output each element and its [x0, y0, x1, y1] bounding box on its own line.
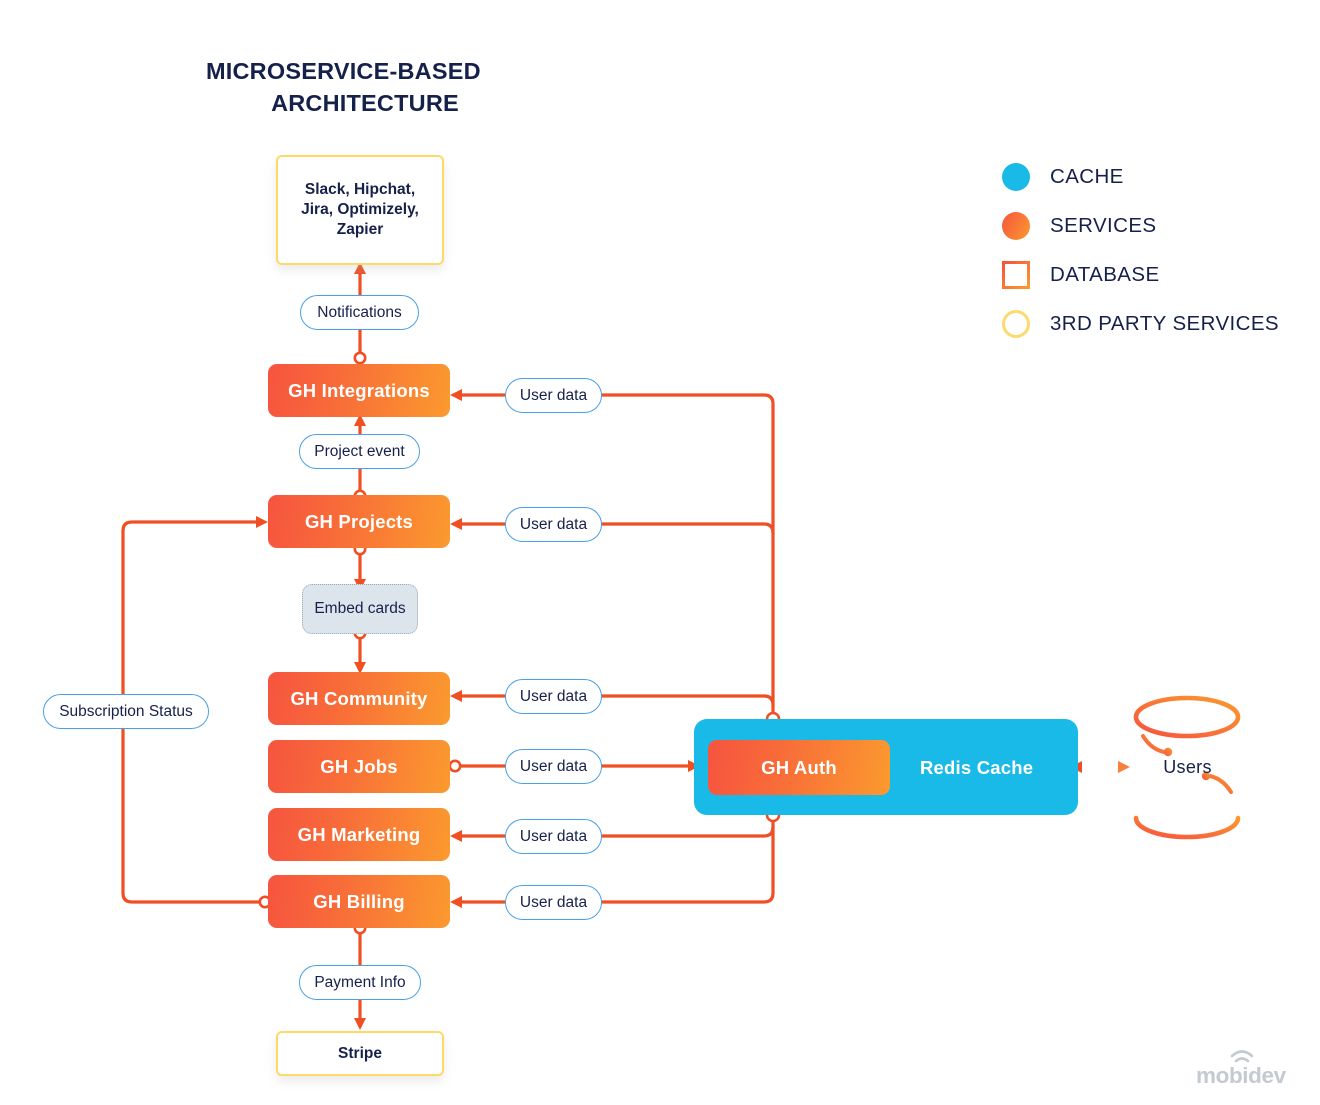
node-label-gh-auth: GH Auth [761, 757, 837, 779]
node-gh-auth[interactable]: GH Auth [708, 740, 890, 795]
node-gh-integrations[interactable]: GH Integrations [268, 364, 450, 417]
edge-label-user-data-integrations-text: User data [520, 387, 587, 405]
node-label-gh-community: GH Community [290, 688, 427, 710]
page-title: MICROSERVICE-BASED ARCHITECTURE [206, 55, 626, 119]
endpoint-gh-jobs-right [450, 761, 460, 771]
endpoint-gh-integrations-top [355, 353, 365, 363]
redis-users-connector [1070, 761, 1130, 773]
node-label-embed-cards: Embed cards [314, 600, 405, 618]
services-swatch-icon [1002, 212, 1030, 240]
node-label-gh-integrations: GH Integrations [288, 380, 430, 402]
edge-label-user-data-community[interactable]: User data [505, 679, 602, 714]
legend-label-database: DATABASE [1050, 263, 1160, 287]
title-line-2: ARCHITECTURE [206, 87, 524, 119]
third-party-swatch-icon [1002, 310, 1030, 338]
users-db-text: Users [1163, 757, 1212, 778]
node-label-users-db: Users [1130, 690, 1245, 845]
third-party-line-2: Jira, Optimizely, [301, 200, 419, 220]
edge-label-user-data-projects[interactable]: User data [505, 507, 602, 542]
node-label-redis-cache: Redis Cache [920, 757, 1033, 779]
svg-text:mobidev: mobidev [1196, 1063, 1287, 1088]
mobidev-logo: mobidev [1196, 1052, 1287, 1089]
edge-label-user-data-jobs-text: User data [520, 758, 587, 776]
node-label-stripe: Stripe [338, 1044, 382, 1064]
node-gh-marketing[interactable]: GH Marketing [268, 808, 450, 861]
edge-label-user-data-marketing-text: User data [520, 828, 587, 846]
edge-label-user-data-marketing[interactable]: User data [505, 819, 602, 854]
edge-label-subscription-status-text: Subscription Status [59, 703, 193, 721]
edge-label-user-data-billing[interactable]: User data [505, 885, 602, 920]
node-gh-billing[interactable]: GH Billing [268, 875, 450, 928]
diagram-canvas: mobidev MICROSERVICE-BASED ARCHITECTURE … [0, 0, 1320, 1105]
node-gh-jobs[interactable]: GH Jobs [268, 740, 450, 793]
legend: CACHE SERVICES DATABASE 3RD PARTY SERVIC… [1002, 152, 1302, 348]
edge-label-user-data-projects-text: User data [520, 516, 587, 534]
node-third-party-integrations[interactable]: Slack, Hipchat, Jira, Optimizely, Zapier [276, 155, 444, 265]
database-swatch-icon [1002, 261, 1030, 289]
edge-label-subscription-status[interactable]: Subscription Status [43, 694, 209, 729]
edge-label-project-event[interactable]: Project event [299, 434, 420, 469]
node-embed-cards[interactable]: Embed cards [302, 584, 418, 634]
legend-label-third-party: 3RD PARTY SERVICES [1050, 312, 1279, 336]
cache-swatch-icon [1002, 163, 1030, 191]
edge-label-payment-info-text: Payment Info [314, 974, 405, 992]
node-gh-projects[interactable]: GH Projects [268, 495, 450, 548]
third-party-line-1: Slack, Hipchat, [305, 180, 415, 200]
legend-item-services: SERVICES [1002, 201, 1302, 250]
node-label-gh-jobs: GH Jobs [320, 756, 397, 778]
legend-item-cache: CACHE [1002, 152, 1302, 201]
node-label-gh-marketing: GH Marketing [298, 824, 421, 846]
edge-label-user-data-integrations[interactable]: User data [505, 378, 602, 413]
edge-label-notifications-text: Notifications [317, 304, 401, 322]
third-party-line-3: Zapier [337, 220, 384, 240]
edge-label-notifications[interactable]: Notifications [300, 295, 419, 330]
legend-label-services: SERVICES [1050, 214, 1157, 238]
edge-label-user-data-jobs[interactable]: User data [505, 749, 602, 784]
edge-label-project-event-text: Project event [314, 443, 404, 461]
legend-label-cache: CACHE [1050, 165, 1124, 189]
edge-label-user-data-community-text: User data [520, 688, 587, 706]
legend-item-third-party: 3RD PARTY SERVICES [1002, 299, 1302, 348]
node-gh-community[interactable]: GH Community [268, 672, 450, 725]
edge-label-user-data-billing-text: User data [520, 894, 587, 912]
node-label-gh-billing: GH Billing [313, 891, 404, 913]
title-line-1: MICROSERVICE-BASED [206, 58, 481, 84]
node-stripe[interactable]: Stripe [276, 1031, 444, 1076]
node-label-gh-projects: GH Projects [305, 511, 413, 533]
legend-item-database: DATABASE [1002, 250, 1302, 299]
edge-label-payment-info[interactable]: Payment Info [299, 965, 421, 1000]
